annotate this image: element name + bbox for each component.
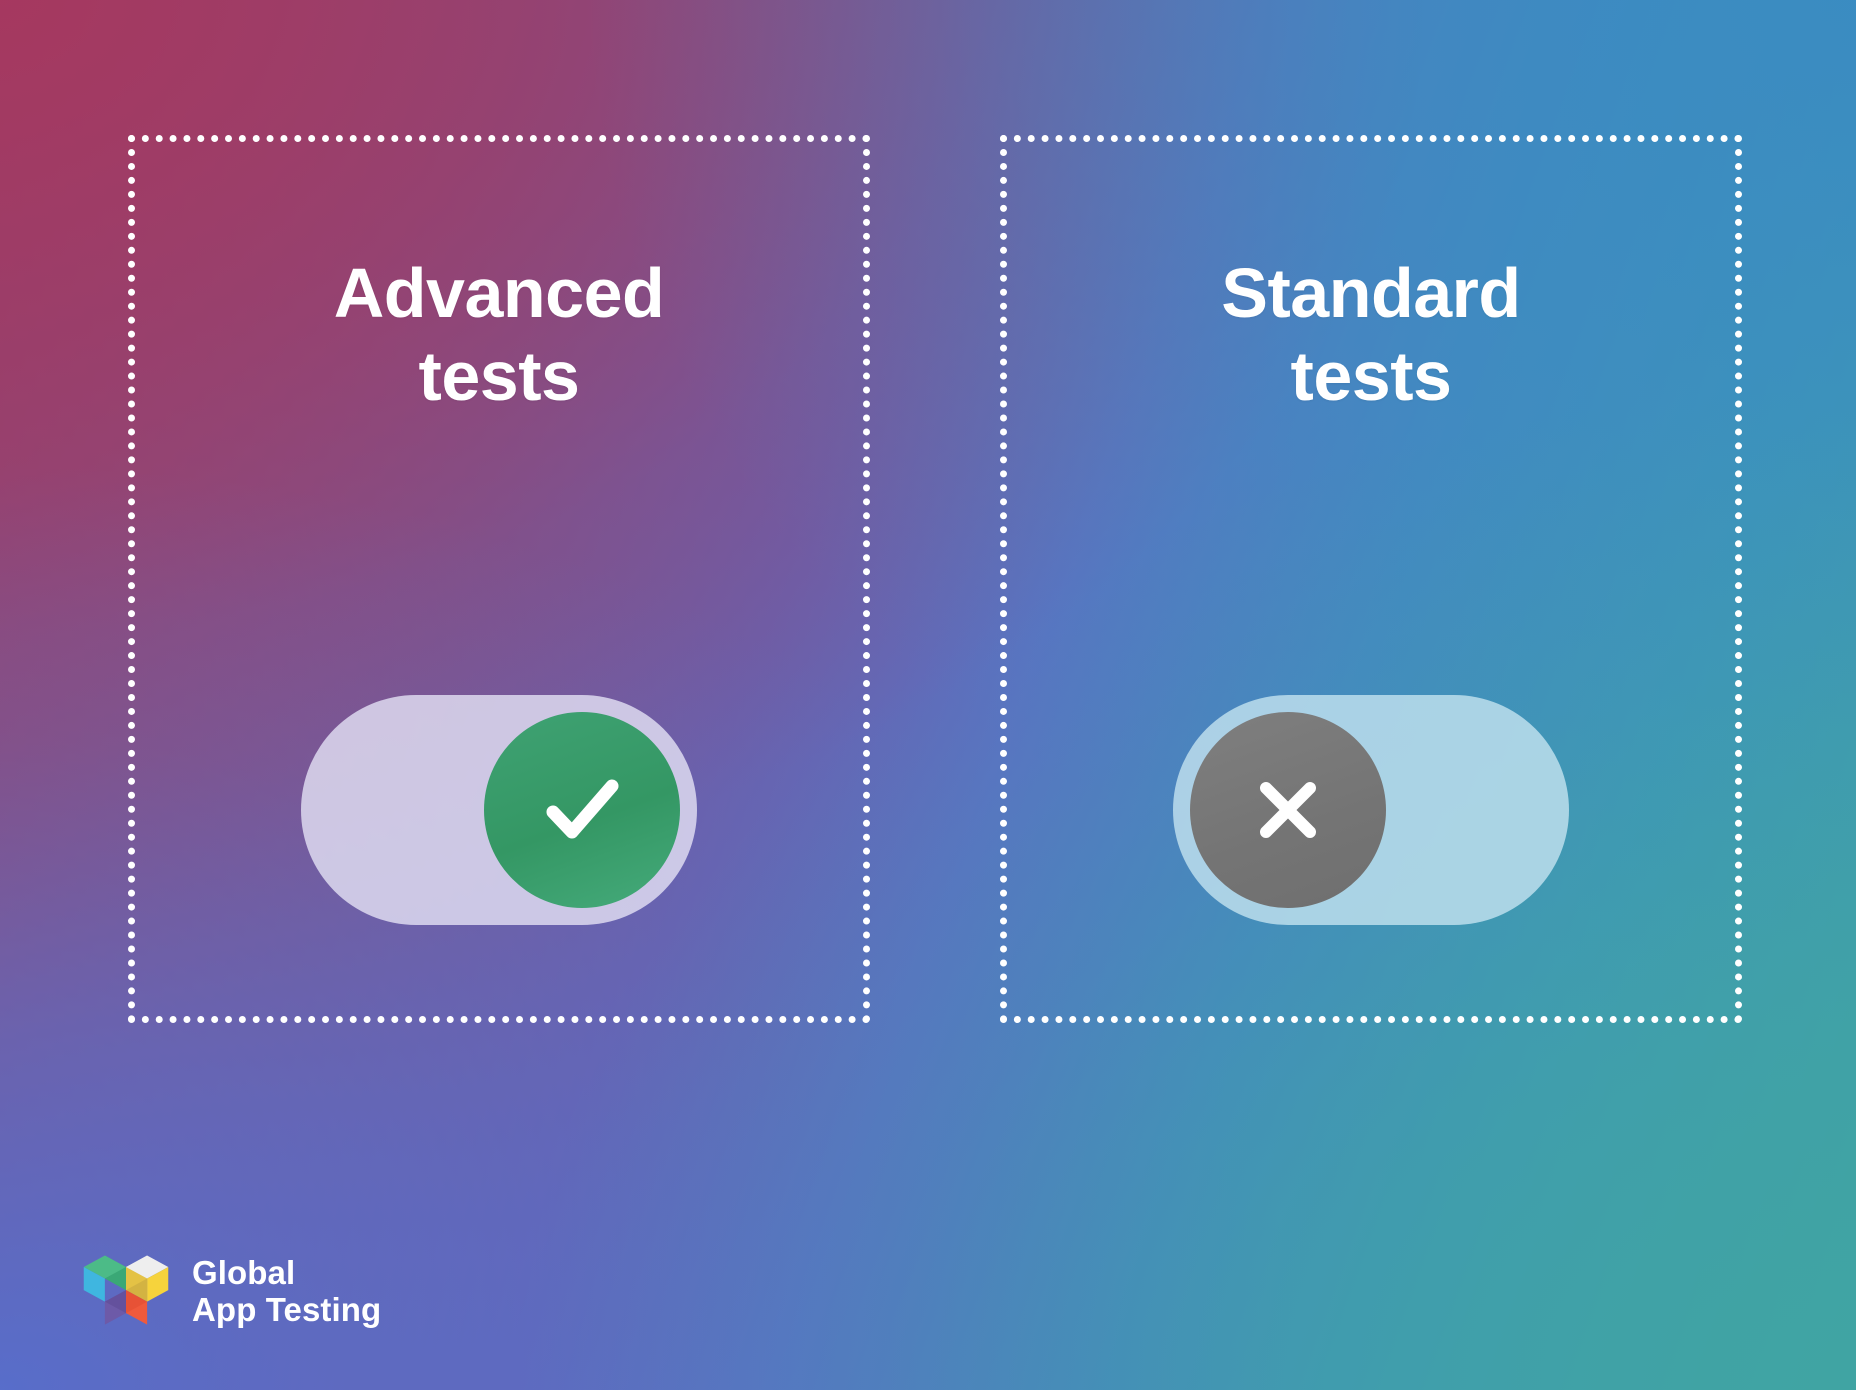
toggle-container-advanced (135, 695, 863, 925)
panel-title-advanced: Advanced tests (135, 252, 863, 417)
brand-logo-line2: App Testing (192, 1292, 381, 1329)
brand-logo-text: Global App Testing (192, 1255, 381, 1329)
panel-standard-tests: Standard tests (1000, 135, 1742, 1023)
panel-title-standard: Standard tests (1007, 252, 1735, 417)
toggle-standard-tests[interactable] (1173, 695, 1569, 925)
toggle-knob-standard[interactable] (1190, 712, 1386, 908)
toggle-knob-advanced[interactable] (484, 712, 680, 908)
slide-canvas: Advanced tests Standard tests (0, 0, 1856, 1390)
brand-logo-line1: Global (192, 1255, 381, 1292)
panel-advanced-tests: Advanced tests (128, 135, 870, 1023)
toggle-advanced-tests[interactable] (301, 695, 697, 925)
check-icon (527, 755, 637, 865)
brand-logo: Global App Testing (78, 1244, 381, 1340)
toggle-container-standard (1007, 695, 1735, 925)
global-app-testing-logo-icon (78, 1244, 174, 1340)
close-icon (1233, 755, 1343, 865)
